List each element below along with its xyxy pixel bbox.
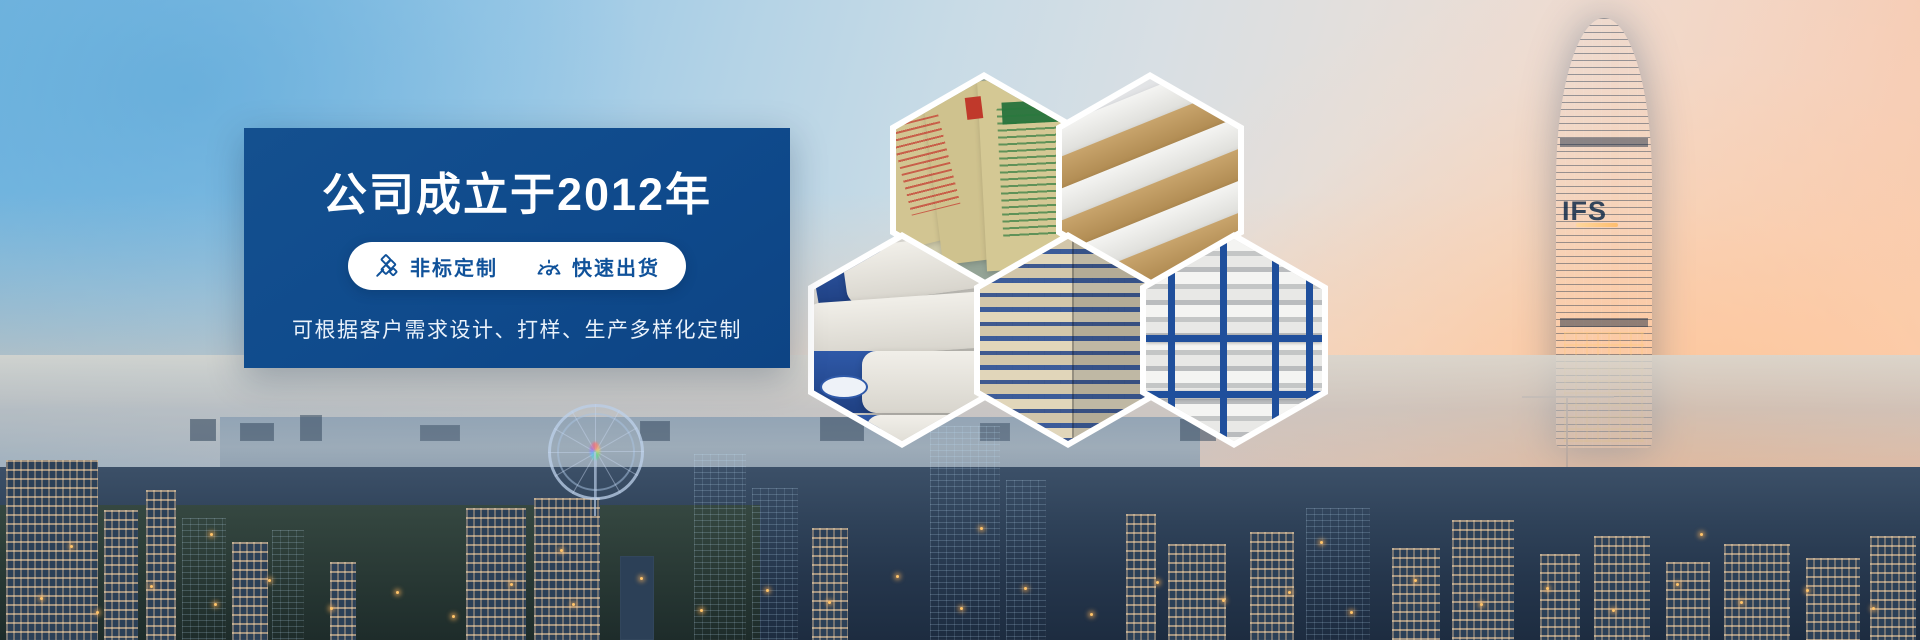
tower-band xyxy=(1560,318,1648,327)
promo-card: 公司成立于2012年 非标定制 xyxy=(244,128,790,368)
hero-banner: IFS xyxy=(0,0,1920,640)
building xyxy=(534,498,600,640)
building xyxy=(330,562,356,640)
building xyxy=(1666,562,1710,640)
building xyxy=(146,490,176,640)
building xyxy=(1168,544,1226,640)
building xyxy=(1392,548,1440,640)
building xyxy=(1452,520,1514,640)
building xyxy=(1006,480,1046,640)
building xyxy=(232,542,268,640)
building xyxy=(812,528,848,640)
building xyxy=(1806,558,1860,640)
feature-fast-shipping[interactable]: 快速出货 xyxy=(536,252,660,281)
speed-gauge-icon xyxy=(536,253,562,279)
building xyxy=(1724,544,1790,640)
tower-light-strip xyxy=(1576,223,1618,227)
feature-pill: 非标定制 快速出货 xyxy=(348,242,686,290)
building xyxy=(466,508,526,640)
building xyxy=(930,426,1000,640)
feature-custom-design[interactable]: 非标定制 xyxy=(374,252,498,281)
feature-label: 非标定制 xyxy=(410,252,498,281)
building xyxy=(694,454,746,640)
building xyxy=(1870,536,1916,640)
building xyxy=(272,530,304,640)
custom-design-icon xyxy=(374,253,400,279)
building xyxy=(752,488,798,640)
building xyxy=(182,518,226,640)
building xyxy=(1306,508,1370,640)
page-title: 公司成立于2012年 xyxy=(244,172,790,217)
product-hex-gallery xyxy=(800,72,1320,452)
building xyxy=(1250,532,1294,640)
building xyxy=(1594,536,1650,640)
feature-label: 快速出货 xyxy=(572,252,660,281)
ferris-wheel xyxy=(548,404,644,500)
page-subtitle: 可根据客户需求设计、打样、生产多样化定制 xyxy=(244,314,790,344)
tower-band xyxy=(1560,138,1648,147)
building xyxy=(1126,514,1156,640)
building xyxy=(6,460,98,640)
building xyxy=(620,556,654,640)
building xyxy=(104,510,138,640)
building xyxy=(1540,554,1580,640)
